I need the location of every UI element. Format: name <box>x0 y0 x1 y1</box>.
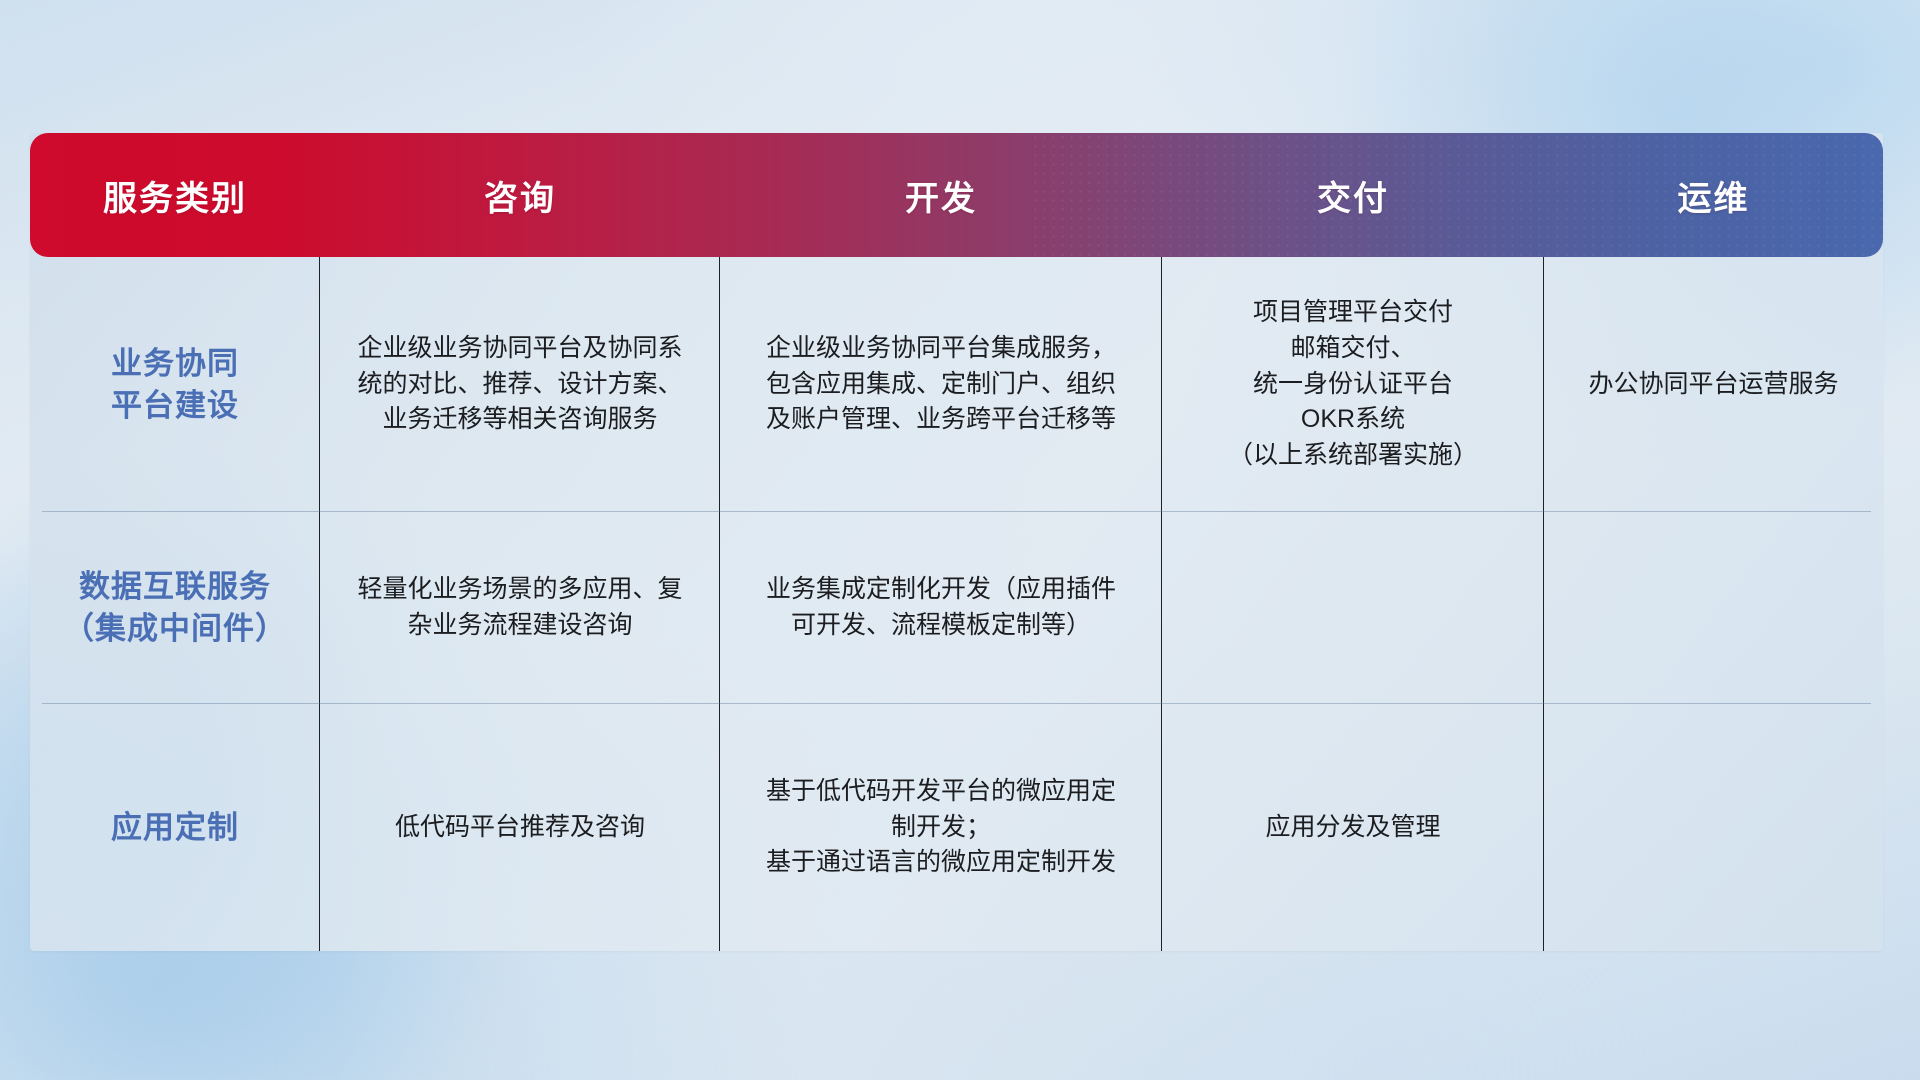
row-1-category-cell: 业务协同 平台建设 <box>30 257 320 512</box>
table-rows: 业务协同 平台建设 企业级业务协同平台及协同系 统的对比、推荐、设计方案、 业务… <box>30 257 1883 951</box>
header-cell-development: 开发 <box>720 171 1162 220</box>
row-1-operations-cell: 办公协同平台运营服务 <box>1544 257 1883 512</box>
row-3-delivery-cell: 应用分发及管理 <box>1162 704 1544 951</box>
header-label-development: 开发 <box>905 180 977 218</box>
row-3-development-cell: 基于低代码开发平台的微应用定 制开发； 基于通过语言的微应用定制开发 <box>720 704 1162 951</box>
header-label-consulting: 咨询 <box>484 180 556 218</box>
header-label-service-category: 服务类别 <box>103 180 247 218</box>
row-1-development-cell: 企业级业务协同平台集成服务， 包含应用集成、定制门户、组织 及账户管理、业务跨平… <box>720 257 1162 512</box>
row-2-development-cell: 业务集成定制化开发（应用插件 可开发、流程模板定制等） <box>720 512 1162 704</box>
header-cell-operations: 运维 <box>1544 171 1883 220</box>
row-1-delivery-cell: 项目管理平台交付 邮箱交付、 统一身份认证平台 OKR系统 （以上系统部署实施） <box>1162 257 1544 512</box>
row-3-operations-cell <box>1544 704 1883 951</box>
table-row: 应用定制 低代码平台推荐及咨询 基于低代码开发平台的微应用定 制开发； 基于通过… <box>30 704 1883 951</box>
row-1-consulting-cell: 企业级业务协同平台及协同系 统的对比、推荐、设计方案、 业务迁移等相关咨询服务 <box>320 257 720 512</box>
row-2-category-cell: 数据互联服务 （集成中间件） <box>30 512 320 704</box>
service-category-table: 服务类别 咨询 开发 交付 运维 业务协同 平台建设 企业级业务协同平台及协同系… <box>30 133 1883 951</box>
row-2-operations-cell <box>1544 512 1883 704</box>
row-3-consulting-cell: 低代码平台推荐及咨询 <box>320 704 720 951</box>
row-2-consulting-cell: 轻量化业务场景的多应用、复 杂业务流程建设咨询 <box>320 512 720 704</box>
table-header-row: 服务类别 咨询 开发 交付 运维 <box>30 133 1883 257</box>
header-label-operations: 运维 <box>1678 180 1750 218</box>
header-cell-consulting: 咨询 <box>320 171 720 220</box>
header-cell-delivery: 交付 <box>1162 171 1544 220</box>
row-3-category-cell: 应用定制 <box>30 704 320 951</box>
header-cell-service-category: 服务类别 <box>30 171 320 220</box>
row-2-delivery-cell <box>1162 512 1544 704</box>
header-label-delivery: 交付 <box>1317 180 1389 218</box>
table-row: 数据互联服务 （集成中间件） 轻量化业务场景的多应用、复 杂业务流程建设咨询 业… <box>30 512 1883 704</box>
table-row: 业务协同 平台建设 企业级业务协同平台及协同系 统的对比、推荐、设计方案、 业务… <box>30 257 1883 512</box>
